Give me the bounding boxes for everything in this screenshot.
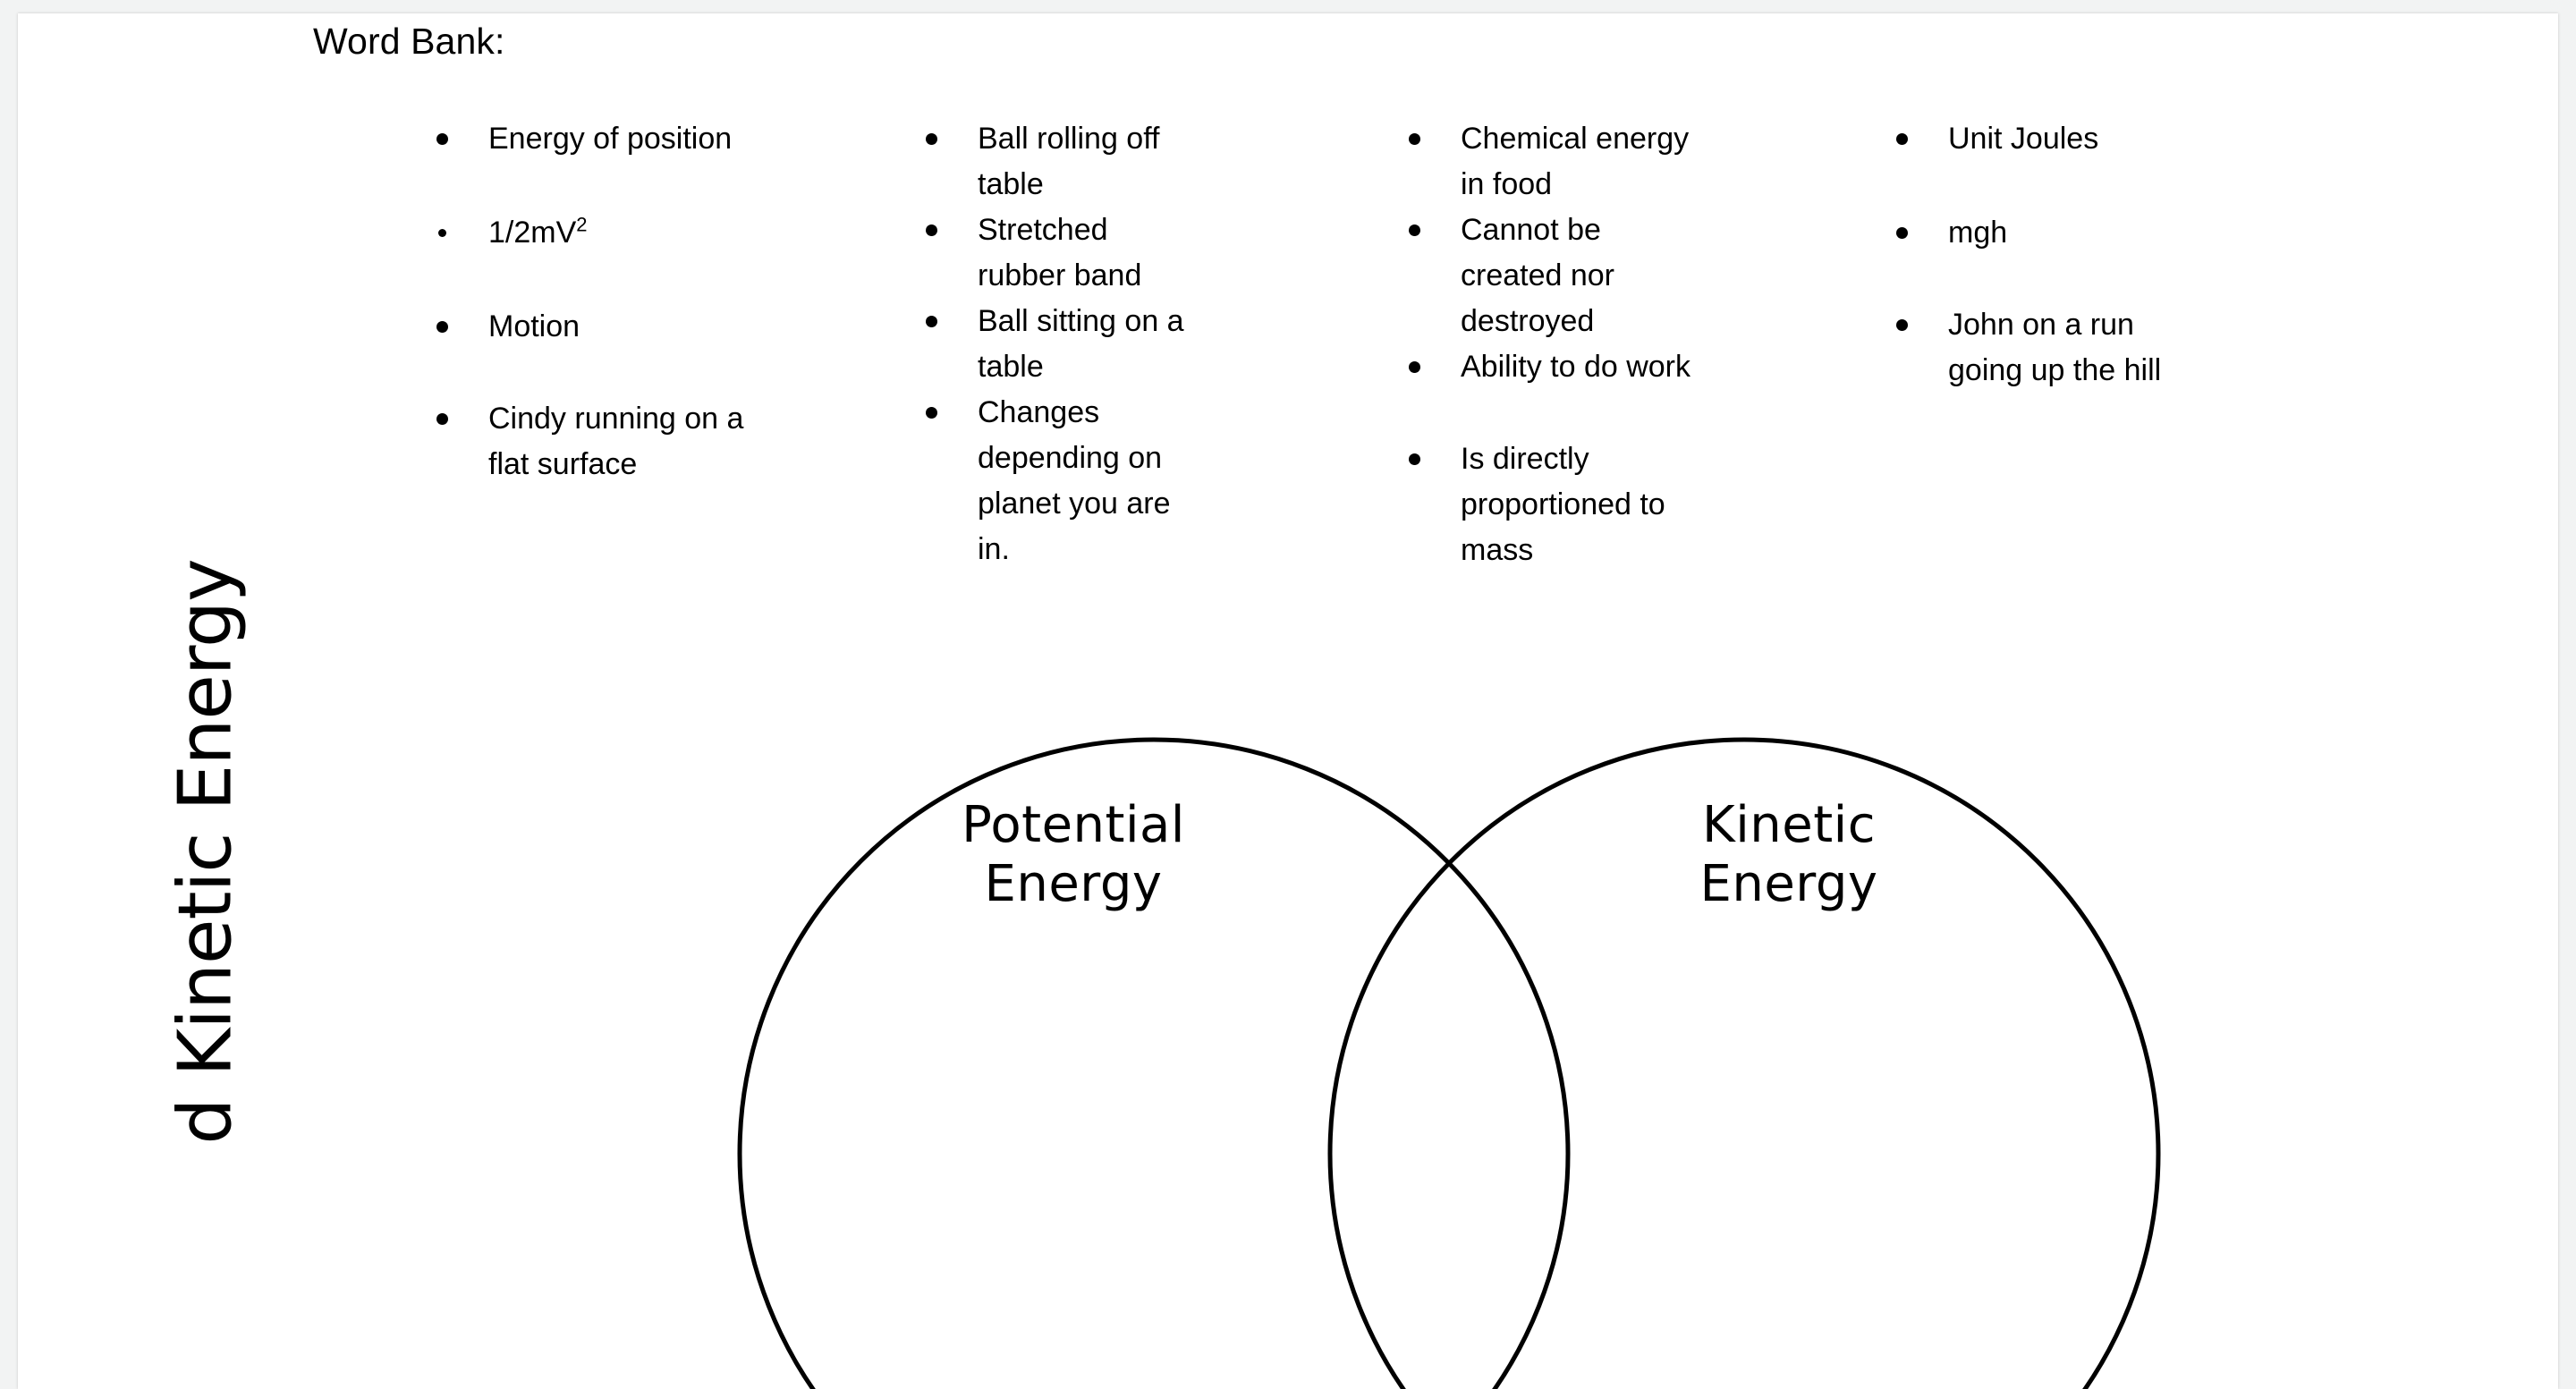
word-bank-item-label: Motion — [488, 309, 580, 343]
word-bank-item: Cannot be created nor destroyed — [1391, 208, 1699, 344]
word-bank-item-label: mgh — [1948, 216, 2007, 250]
word-bank-title: Word Bank: — [313, 21, 504, 63]
word-bank-item-label: Cannot be created nor destroyed — [1461, 213, 1614, 338]
bullet-icon — [438, 229, 446, 237]
word-bank-column-1: Energy of position 1/2mV2 Motion Cindy r… — [419, 116, 767, 487]
bullet-icon — [436, 413, 448, 425]
bullet-icon — [436, 321, 448, 333]
word-bank-item: Unit Joules — [1878, 116, 2173, 162]
word-bank-item-label: John on a run going up the hill — [1948, 308, 2161, 387]
word-bank-item-label: Stretched rubber band — [978, 213, 1141, 292]
word-bank-column-3: Chemical energy in food Cannot be create… — [1391, 116, 1699, 573]
bullet-icon — [436, 133, 448, 145]
word-bank-item-label: Is directly proportioned to mass — [1461, 442, 1665, 567]
venn-label-potential-energy: Potential Energy — [944, 796, 1203, 914]
word-bank-item: John on a run going up the hill — [1878, 302, 2173, 394]
word-bank-item-label: Changes depending on planet you are in. — [978, 395, 1171, 566]
word-bank-item: Chemical energy in food — [1391, 116, 1699, 208]
bullet-icon — [1896, 133, 1908, 145]
bullet-icon — [1409, 453, 1420, 465]
word-bank-column-4: Unit Joules mgh John on a run going up t… — [1878, 116, 2173, 394]
word-bank-item: Energy of position — [419, 116, 767, 162]
word-bank-item: 1/2mV2 — [419, 210, 767, 256]
bullet-icon — [1409, 224, 1420, 236]
bullet-icon — [926, 133, 937, 145]
word-bank-item-superscript: 2 — [576, 214, 587, 236]
worksheet-page: Word Bank: Energy of position 1/2mV2 Mot… — [18, 13, 2558, 1389]
vertical-worksheet-title: d Kinetic Energy — [164, 450, 249, 1255]
word-bank-item: Ability to do work — [1391, 344, 1699, 390]
word-bank-item-label: Ability to do work — [1461, 350, 1690, 384]
word-bank-item: Ball rolling off table — [908, 116, 1203, 208]
venn-label-kinetic-energy: Kinetic Energy — [1659, 796, 1919, 914]
word-bank-item-label: Unit Joules — [1948, 122, 2098, 156]
bullet-icon — [1409, 133, 1420, 145]
bullet-icon — [1896, 227, 1908, 239]
word-bank-item-label: Ball rolling off table — [978, 122, 1160, 201]
bullet-icon — [926, 316, 937, 327]
bullet-icon — [926, 407, 937, 419]
word-bank-item-label: 1/2mV — [488, 216, 576, 250]
bullet-icon — [1409, 361, 1420, 373]
word-bank-item: Changes depending on planet you are in. — [908, 390, 1203, 572]
word-bank-item-label: Ball sitting on a table — [978, 304, 1184, 384]
bullet-icon — [1896, 319, 1908, 331]
word-bank-item-label: Cindy running on a flat surface — [488, 402, 743, 481]
word-bank-item-label: Chemical energy in food — [1461, 122, 1689, 201]
word-bank-item: mgh — [1878, 210, 2173, 256]
word-bank-item: Ball sitting on a table — [908, 299, 1203, 390]
word-bank-item: Stretched rubber band — [908, 208, 1203, 299]
word-bank-item: Motion — [419, 304, 767, 350]
word-bank-item: Cindy running on a flat surface — [419, 396, 767, 487]
word-bank-column-2: Ball rolling off table Stretched rubber … — [908, 116, 1203, 572]
word-bank-item: Is directly proportioned to mass — [1391, 436, 1699, 573]
word-bank-item-label: Energy of position — [488, 122, 732, 156]
venn-diagram — [18, 13, 2558, 1389]
bullet-icon — [926, 224, 937, 236]
